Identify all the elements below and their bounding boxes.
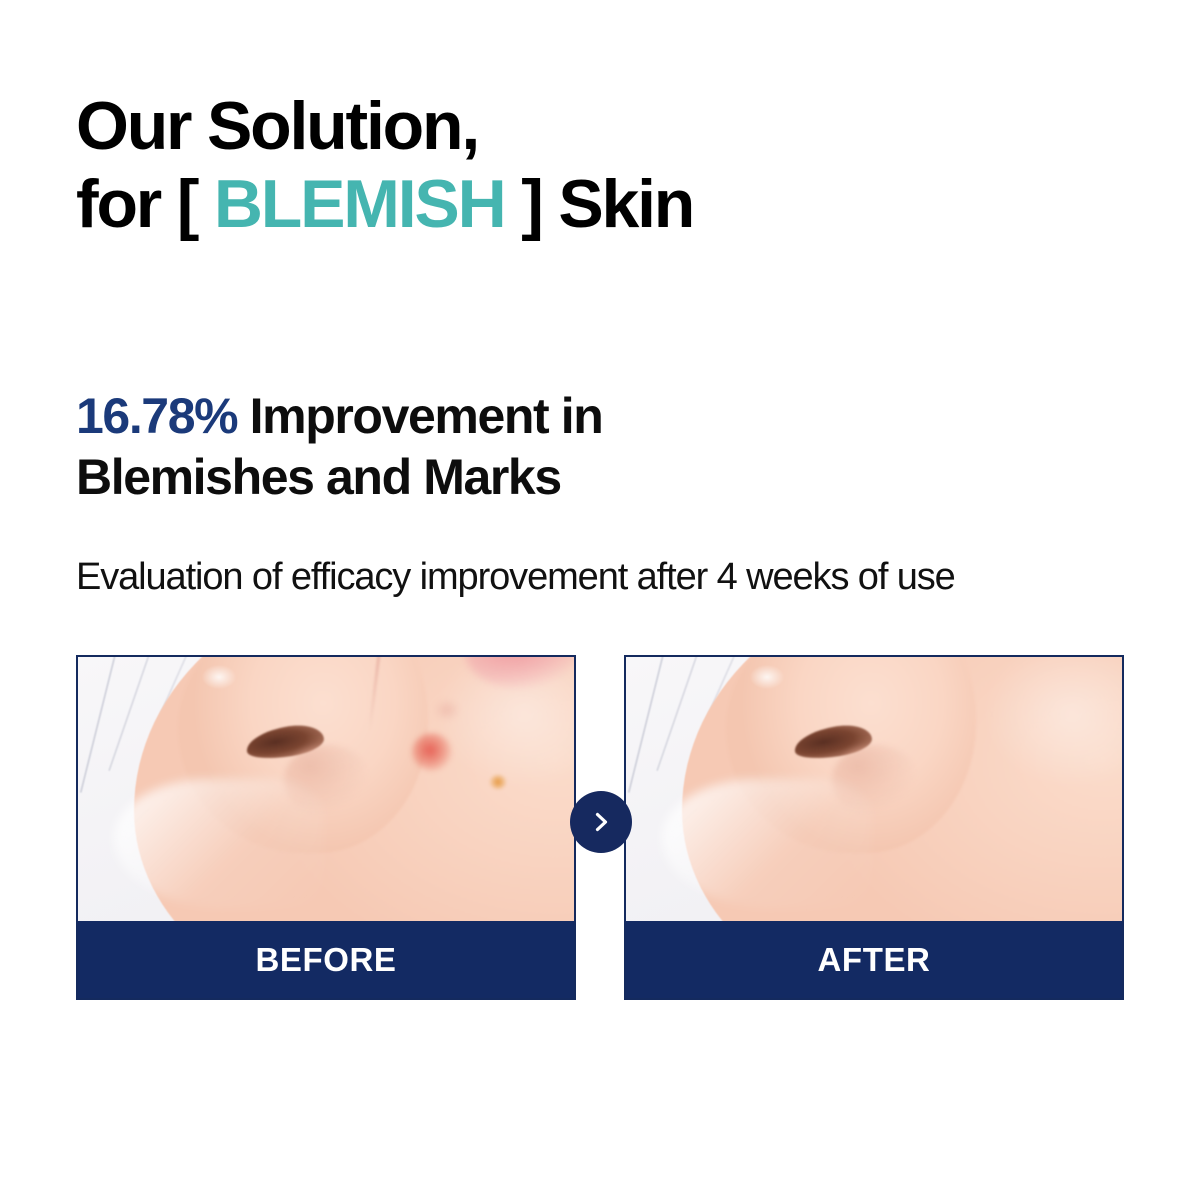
- before-after-comparison: BEFORE: [0, 655, 1200, 1003]
- blemish-mark: [456, 657, 574, 699]
- panel-label-before: BEFORE: [78, 921, 574, 998]
- marketing-infographic: Our Solution, for [ BLEMISH ] Skin 16.78…: [0, 0, 1200, 1200]
- headline-line-1: Our Solution,: [76, 92, 1126, 170]
- blemish-mark: [368, 657, 383, 731]
- before-photo: [78, 657, 574, 921]
- nose-tip-highlight: [750, 665, 784, 689]
- blemish-mark: [412, 733, 452, 771]
- blemish-mark: [490, 775, 506, 789]
- comparison-panel-before: BEFORE: [76, 655, 576, 1000]
- comparison-panel-after: AFTER: [624, 655, 1124, 1000]
- page-title: Our Solution, for [ BLEMISH ] Skin: [76, 92, 1126, 248]
- headline-highlight: BLEMISH: [214, 166, 505, 242]
- panel-label-text: BEFORE: [255, 941, 396, 979]
- blemish-mark: [434, 699, 460, 721]
- stat-subtitle: Evaluation of efficacy improvement after…: [76, 556, 1146, 599]
- face-skin-region: [682, 657, 1122, 921]
- chevron-right-icon: [570, 791, 632, 853]
- blemish-marks-group: [134, 657, 574, 921]
- headline-prefix: for: [76, 166, 177, 242]
- stat-percent-value: 16.78%: [76, 388, 237, 444]
- headline-bracket-close: ]: [505, 166, 542, 242]
- cheek-highlight: [982, 657, 1122, 789]
- headline-bracket-open: [: [177, 166, 214, 242]
- stat-line-1-rest: Improvement in: [237, 388, 602, 444]
- stat-line-2: Blemishes and Marks: [76, 447, 1136, 508]
- headline-suffix: Skin: [542, 166, 694, 242]
- stat-line-1: 16.78% Improvement in: [76, 388, 602, 444]
- after-photo: [626, 657, 1122, 921]
- panel-label-text: AFTER: [818, 941, 931, 979]
- headline-line-2: for [ BLEMISH ] Skin: [76, 170, 1126, 248]
- panel-label-after: AFTER: [626, 921, 1122, 998]
- stat-headline: 16.78% Improvement in Blemishes and Mark…: [76, 386, 1136, 508]
- face-skin-region: [134, 657, 574, 921]
